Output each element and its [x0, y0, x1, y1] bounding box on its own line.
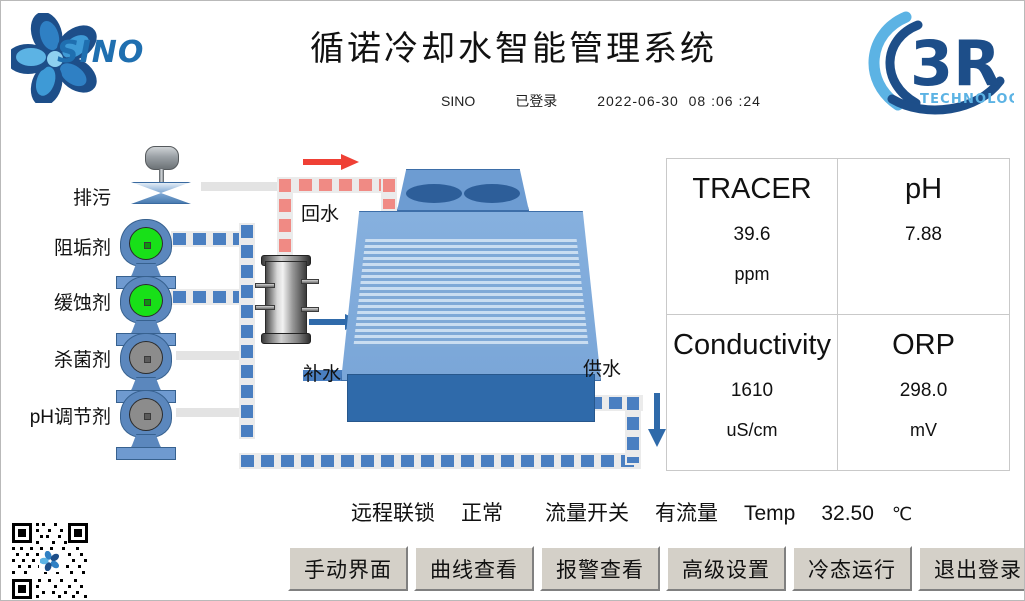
measurement-card-conductivity: Conductivity 1610 uS/cm	[667, 315, 838, 471]
sidebar-item-label-biocide: 杀菌剂	[54, 345, 111, 372]
temp-unit: ℃	[892, 504, 912, 525]
header-status-bar: SINO 已登录 2022-06-30 08 :06 :24	[441, 91, 761, 111]
valve-body-icon	[131, 182, 191, 204]
svg-text:TECHNOLOGY: TECHNOLOGY	[920, 92, 1014, 107]
qr-center-logo	[39, 550, 61, 572]
pump-status-lamp	[129, 227, 163, 260]
status-row: 远程联锁 正常 流量开关 有流量 Temp 32.50 ℃	[351, 497, 912, 527]
temp-value: 32.50	[821, 502, 874, 526]
tower-fan-blade-left-icon	[406, 184, 462, 203]
measurement-card-ph: pH 7.88	[838, 159, 1009, 315]
sidebar-item-label-antiscalant: 阻垢剂	[54, 233, 111, 260]
temp-label: Temp	[744, 502, 795, 526]
login-state: 已登录	[515, 91, 557, 111]
sino-mini-icon	[40, 551, 60, 571]
measurement-unit: mV	[910, 420, 937, 441]
pump-status-lamp	[129, 284, 163, 317]
blowdown-valve[interactable]	[123, 146, 209, 206]
pipe-ph-adjuster	[176, 408, 246, 417]
pipe-return-left	[279, 179, 291, 259]
hx-nozzle-left-upper-icon	[255, 283, 275, 288]
remote-interlock-label: 远程联锁	[351, 497, 435, 527]
pipe-biocide	[176, 351, 246, 360]
sidebar-item-label-inhibitor: 缓蚀剂	[54, 288, 111, 315]
pump-status-lamp	[129, 398, 163, 431]
arrow-supply-flow-icon	[646, 393, 668, 449]
heat-exchanger[interactable]	[259, 251, 315, 347]
label-return-water: 回水	[301, 199, 339, 226]
measurement-name: pH	[905, 173, 942, 206]
measurement-value: 39.6	[734, 224, 771, 246]
cooling-tower[interactable]	[341, 169, 601, 419]
cold-run-button[interactable]: 冷态运行	[792, 546, 912, 591]
current-user: SINO	[441, 93, 475, 109]
qr-code[interactable]	[10, 521, 90, 601]
measurement-value: 1610	[731, 380, 773, 402]
valve-actuator-icon	[145, 146, 179, 170]
logout-button[interactable]: 退出登录	[918, 546, 1025, 591]
tower-basin-icon	[347, 374, 595, 422]
pump-ph-adjuster[interactable]	[114, 390, 178, 464]
label-supply-water: 供水	[583, 354, 621, 381]
hx-shell-icon	[265, 261, 307, 337]
measurement-unit: ppm	[734, 264, 769, 285]
measurement-value: 7.88	[905, 224, 942, 246]
pipe-blowdown	[201, 182, 287, 191]
pipe-loop-bottom	[241, 455, 639, 467]
sidebar-item-label-blowdown: 排污	[73, 183, 111, 210]
tower-fan-blade-right-icon	[464, 184, 520, 203]
measurement-panel: TRACER 39.6 ppm pH 7.88 Conductivity 161…	[666, 158, 1010, 471]
measurement-card-orp: ORP 298.0 mV	[838, 315, 1009, 471]
tower-fan-hood-icon	[397, 169, 529, 211]
label-makeup-water: 补水	[303, 359, 341, 386]
3r-technology-logo: 3R TECHNOLOGY	[854, 3, 1014, 121]
hx-nozzle-right-upper-icon	[301, 279, 319, 284]
measurement-value: 298.0	[900, 380, 948, 402]
curve-view-button[interactable]: 曲线查看	[414, 546, 534, 591]
measurement-name: TRACER	[692, 173, 811, 206]
flow-switch-label: 流量开关	[545, 497, 629, 527]
measurement-name: Conductivity	[673, 329, 831, 362]
pipe-riser	[241, 225, 253, 437]
measurement-name: ORP	[892, 329, 955, 362]
flow-switch-value: 有流量	[655, 497, 718, 527]
hx-nozzle-right-lower-icon	[301, 307, 319, 312]
remote-interlock-value: 正常	[461, 497, 503, 527]
hmi-screen: SINO 循诺冷却水智能管理系统 SINO 已登录 2022-06-30 08 …	[0, 0, 1025, 601]
tower-fill-fins-icon	[351, 239, 591, 347]
sidebar-item-label-ph-adjuster: pH调节剂	[30, 402, 111, 429]
pump-status-lamp	[129, 341, 163, 374]
datetime: 2022-06-30 08 :06 :24	[597, 93, 761, 109]
measurement-unit: uS/cm	[726, 420, 777, 441]
advanced-settings-button[interactable]: 高级设置	[666, 546, 786, 591]
alarm-view-button[interactable]: 报警查看	[540, 546, 660, 591]
measurement-card-tracer: TRACER 39.6 ppm	[667, 159, 838, 315]
hx-nozzle-left-lower-icon	[255, 305, 275, 310]
hx-bottom-cap-icon	[261, 333, 311, 344]
manual-interface-button[interactable]: 手动界面	[288, 546, 408, 591]
pipe-supply-vertical	[627, 397, 639, 463]
pump-foot-icon	[116, 447, 176, 460]
button-bar: 手动界面 曲线查看 报警查看 高级设置 冷态运行 退出登录	[288, 546, 1025, 591]
svg-text:3R: 3R	[910, 27, 1001, 100]
